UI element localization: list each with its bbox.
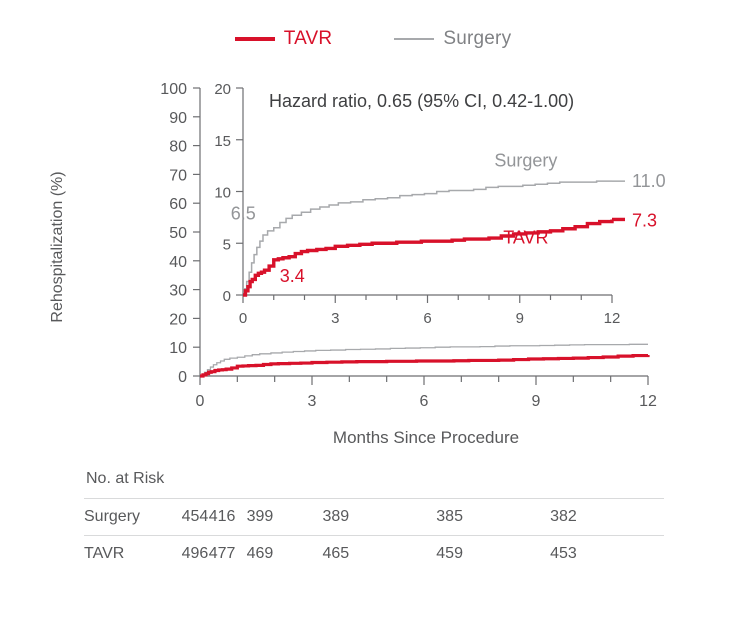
risk-table: Surgery454416399389385382TAVR49647746946… bbox=[84, 498, 664, 572]
inset-y-tick-label: 5 bbox=[223, 236, 231, 253]
x-tick-label: 12 bbox=[639, 393, 657, 410]
inset-axes: 05101520036912 bbox=[214, 81, 620, 327]
risk-cell: 399 bbox=[247, 499, 323, 536]
risk-row-label: TAVR bbox=[84, 536, 182, 573]
risk-cell: 416 bbox=[209, 499, 247, 536]
inset-point-label-tavr: 3.4 bbox=[280, 266, 305, 286]
x-tick-label: 3 bbox=[308, 393, 317, 410]
table-row: TAVR496477469465459453 bbox=[84, 536, 664, 573]
inset-point-label-surgery: 11.0 bbox=[632, 171, 666, 191]
risk-cell: 469 bbox=[247, 536, 323, 573]
y-tick-label: 10 bbox=[169, 340, 187, 357]
rehospitalization-figure: TAVR Surgery Rehospitalization (%) Month… bbox=[0, 0, 746, 622]
inset-y-tick-label: 15 bbox=[214, 133, 231, 150]
risk-table-section: No. at Risk Surgery454416399389385382TAV… bbox=[84, 470, 664, 572]
y-tick-label: 20 bbox=[169, 311, 187, 328]
x-tick-label: 0 bbox=[196, 393, 205, 410]
risk-cell: 477 bbox=[209, 536, 247, 573]
risk-cell: 459 bbox=[436, 536, 550, 573]
inset-curve-label-surgery: Surgery bbox=[494, 151, 557, 171]
inset-x-tick-label: 0 bbox=[239, 310, 247, 327]
table-row: Surgery454416399389385382 bbox=[84, 499, 664, 536]
main-curve-tavr bbox=[200, 355, 648, 376]
inset-point-label-surgery: 6.5 bbox=[231, 204, 256, 224]
risk-cell: 496 bbox=[182, 536, 209, 573]
risk-cell: 382 bbox=[550, 499, 664, 536]
risk-cell: 453 bbox=[550, 536, 664, 573]
y-tick-label: 70 bbox=[169, 167, 187, 184]
risk-cell: 389 bbox=[322, 499, 436, 536]
inset-y-tick-label: 20 bbox=[214, 81, 231, 98]
inset-y-tick-label: 10 bbox=[214, 185, 231, 202]
inset-x-tick-label: 6 bbox=[423, 310, 431, 327]
y-tick-label: 100 bbox=[160, 81, 187, 98]
inset-x-tick-label: 3 bbox=[331, 310, 339, 327]
inset-curve-label-tavr: TAVR bbox=[503, 227, 548, 247]
inset-y-tick-label: 0 bbox=[223, 288, 231, 305]
main-curves bbox=[200, 344, 648, 376]
y-tick-label: 90 bbox=[169, 110, 187, 127]
y-tick-label: 40 bbox=[169, 254, 187, 271]
risk-table-title: No. at Risk bbox=[86, 470, 664, 488]
y-tick-label: 50 bbox=[169, 225, 187, 242]
risk-row-label: Surgery bbox=[84, 499, 182, 536]
x-tick-label: 6 bbox=[420, 393, 429, 410]
risk-cell: 385 bbox=[436, 499, 550, 536]
chart-canvas: 0102030405060708090100036912 05101520036… bbox=[0, 0, 746, 460]
risk-cell: 454 bbox=[182, 499, 209, 536]
inset-x-tick-label: 12 bbox=[604, 310, 621, 327]
hazard-ratio-annotation: Hazard ratio, 0.65 (95% CI, 0.42-1.00) bbox=[269, 91, 574, 111]
risk-cell: 465 bbox=[322, 536, 436, 573]
inset-x-tick-label: 9 bbox=[516, 310, 524, 327]
y-tick-label: 60 bbox=[169, 196, 187, 213]
y-tick-label: 80 bbox=[169, 139, 187, 156]
inset-point-label-tavr: 7.3 bbox=[632, 210, 657, 230]
x-tick-label: 9 bbox=[532, 393, 541, 410]
y-tick-label: 30 bbox=[169, 283, 187, 300]
y-tick-label: 0 bbox=[178, 369, 187, 386]
